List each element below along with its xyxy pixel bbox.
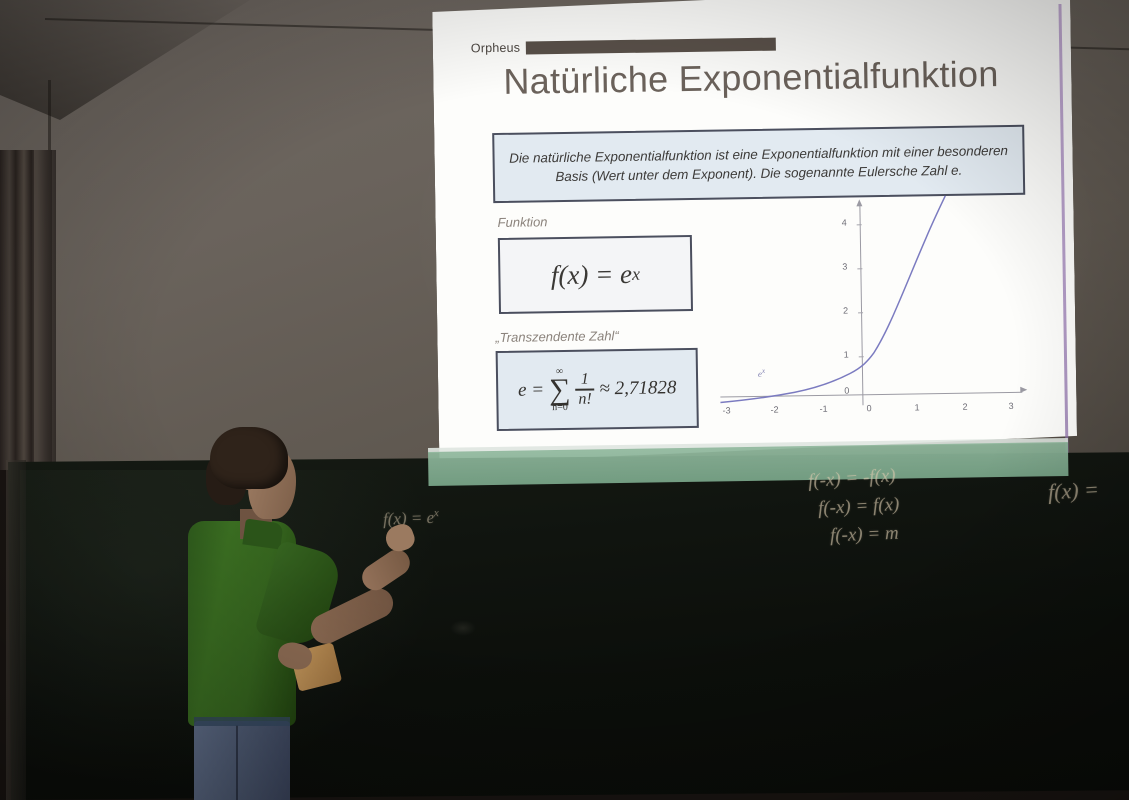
function-formula-exponent: x	[632, 263, 640, 284]
slide-title: Natürliche Exponentialfunktion	[503, 52, 1044, 102]
fraction: 1 n!	[575, 371, 595, 408]
curve-plot	[713, 192, 1047, 427]
function-formula-lhs: f(x) = e	[551, 258, 633, 290]
curve-label: ex	[758, 367, 765, 379]
fraction-numerator: 1	[581, 371, 589, 388]
brand-label: Orpheus	[471, 41, 521, 56]
hair	[210, 427, 288, 489]
x-tick-minus1: -1	[819, 404, 827, 414]
y-tick-1: 1	[844, 349, 849, 359]
x-tick-minus2: -2	[770, 405, 778, 415]
exponential-graph: 4 3 2 1 0 -3 -2 -1 0 1 2 3 ex	[713, 192, 1047, 427]
y-tickmark-4	[857, 224, 862, 225]
sigma-glyph: ∑	[549, 378, 571, 402]
approx-value: ≈ 2,71828	[599, 377, 676, 400]
fraction-denominator: n!	[578, 391, 592, 408]
y-tick-2: 2	[843, 306, 848, 316]
function-label: Funktion	[497, 214, 547, 230]
x-tick-1: 1	[914, 402, 919, 412]
x-tick-0: 0	[866, 403, 871, 413]
slide-content: Orpheus Natürliche Exponentialfunktion D…	[432, 0, 1077, 464]
classroom-photo: Orpheus Natürliche Exponentialfunktion D…	[0, 0, 1129, 800]
function-box: f(x) = ex	[498, 235, 693, 314]
y-tick-3: 3	[842, 262, 847, 272]
brand-bar	[526, 37, 776, 54]
chalk-note-3: f(-x) = m	[830, 523, 899, 547]
function-formula: f(x) = ex	[500, 237, 691, 312]
chalk-note-2: f(-x) = f(x)	[817, 494, 899, 520]
forearm	[357, 545, 415, 596]
sum-lower-limit: n=0	[552, 403, 568, 413]
y-tickmark-3	[857, 268, 862, 269]
writing-hand	[382, 521, 417, 555]
chalk-smudge	[450, 620, 476, 636]
x-tick-2: 2	[962, 402, 967, 412]
jeans	[194, 721, 290, 800]
transcendent-formula: e = ∞ ∑ n=0 1 n! ≈ 2,71828	[498, 350, 697, 429]
description-box: Die natürliche Exponentialfunktion ist e…	[492, 125, 1025, 203]
transcendent-box: e = ∞ ∑ n=0 1 n! ≈ 2,71828	[496, 348, 699, 431]
y-tickmark-2	[858, 312, 863, 313]
jeans-seam	[236, 725, 238, 800]
y-tick-4: 4	[842, 218, 847, 228]
x-tick-3: 3	[1008, 401, 1013, 411]
exp-curve	[717, 196, 948, 403]
transcendent-label: „Transzendente Zahl“	[495, 328, 619, 345]
window-blinds-shadow	[34, 150, 56, 470]
projected-slide: Orpheus Natürliche Exponentialfunktion D…	[432, 0, 1077, 464]
slide-brand: Orpheus	[471, 37, 777, 56]
y-tick-0: 0	[844, 385, 849, 395]
student-at-board	[170, 425, 430, 800]
belt	[194, 717, 290, 726]
y-tickmark-1	[859, 356, 864, 357]
chalk-note-4: f(x) =	[1047, 477, 1099, 506]
shirt-collar	[242, 518, 283, 549]
description-text: Die natürliche Exponentialfunktion ist e…	[494, 127, 1023, 201]
euler-e-lhs: e =	[518, 379, 544, 401]
summation-symbol: ∞ ∑ n=0	[549, 367, 571, 413]
x-tick-minus3: -3	[722, 405, 730, 415]
